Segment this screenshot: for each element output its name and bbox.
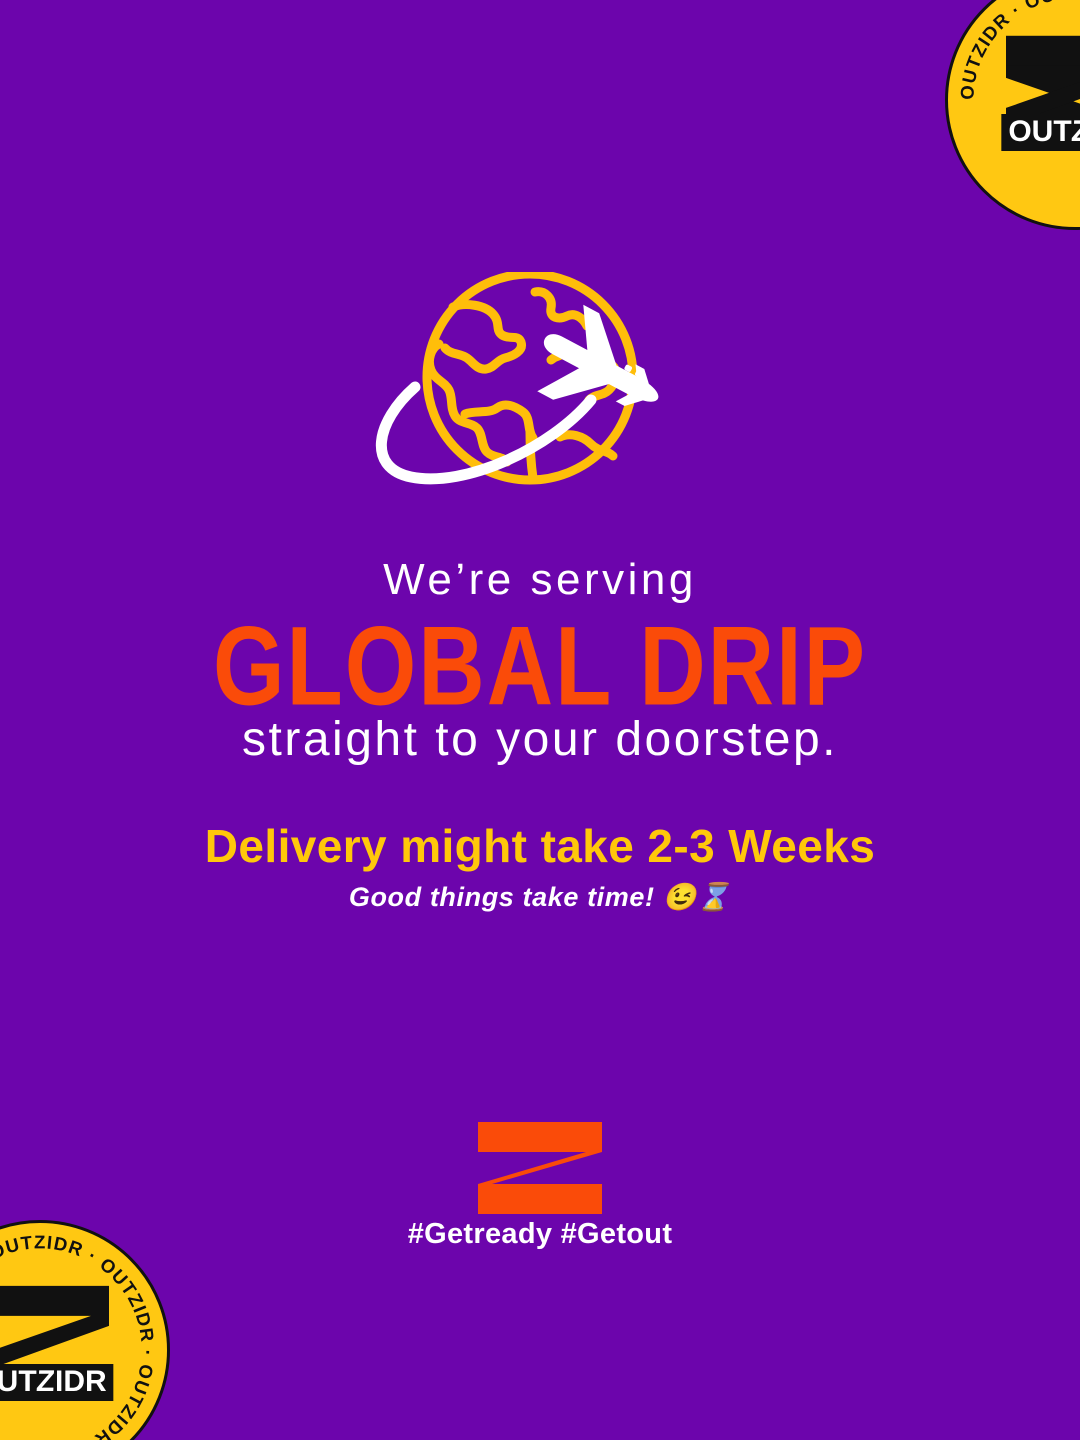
brand-logo-z [478,1122,602,1214]
brand-badge-top-right: OUTZIDR · OUTZIDR · OUTZIDR · OUTZIDR · … [945,0,1080,230]
page-title: GLOBAL DRIP [0,608,1080,726]
airplane-icon [521,296,680,443]
badge-wordmark-left: OUT [1008,115,1071,148]
orbit-swoosh-icon [381,387,591,479]
poster-canvas: OUTZIDR · OUTZIDR · OUTZIDR · OUTZIDR · … [0,0,1080,1440]
badge-wordmark-z: Z [1071,117,1080,147]
badge-wordmark-z: Z [36,1367,56,1397]
brand-badge-bottom-left: OUTZIDR · OUTZIDR · OUTZIDR · OUTZIDR · … [0,1220,170,1440]
badge-wordmark-left: OUT [0,1365,37,1398]
badge-wordmark-bottom-left: OUTZIDR [0,1364,114,1401]
delivery-notice: Delivery might take 2-3 Weeks [0,820,1080,873]
kicker-text: We’re serving [0,556,1080,604]
delivery-subnote: Good things take time! 😉⌛ [0,880,1080,915]
hashtags-text: #Getready #Getout [0,1218,1080,1251]
badge-wordmark-top-right: OUTZIDR [1001,114,1080,151]
subline-text: straight to your doorstep. [0,712,1080,767]
hero-globe-airplane-graphic [355,272,715,512]
badge-wordmark-right: IDR [55,1365,107,1398]
